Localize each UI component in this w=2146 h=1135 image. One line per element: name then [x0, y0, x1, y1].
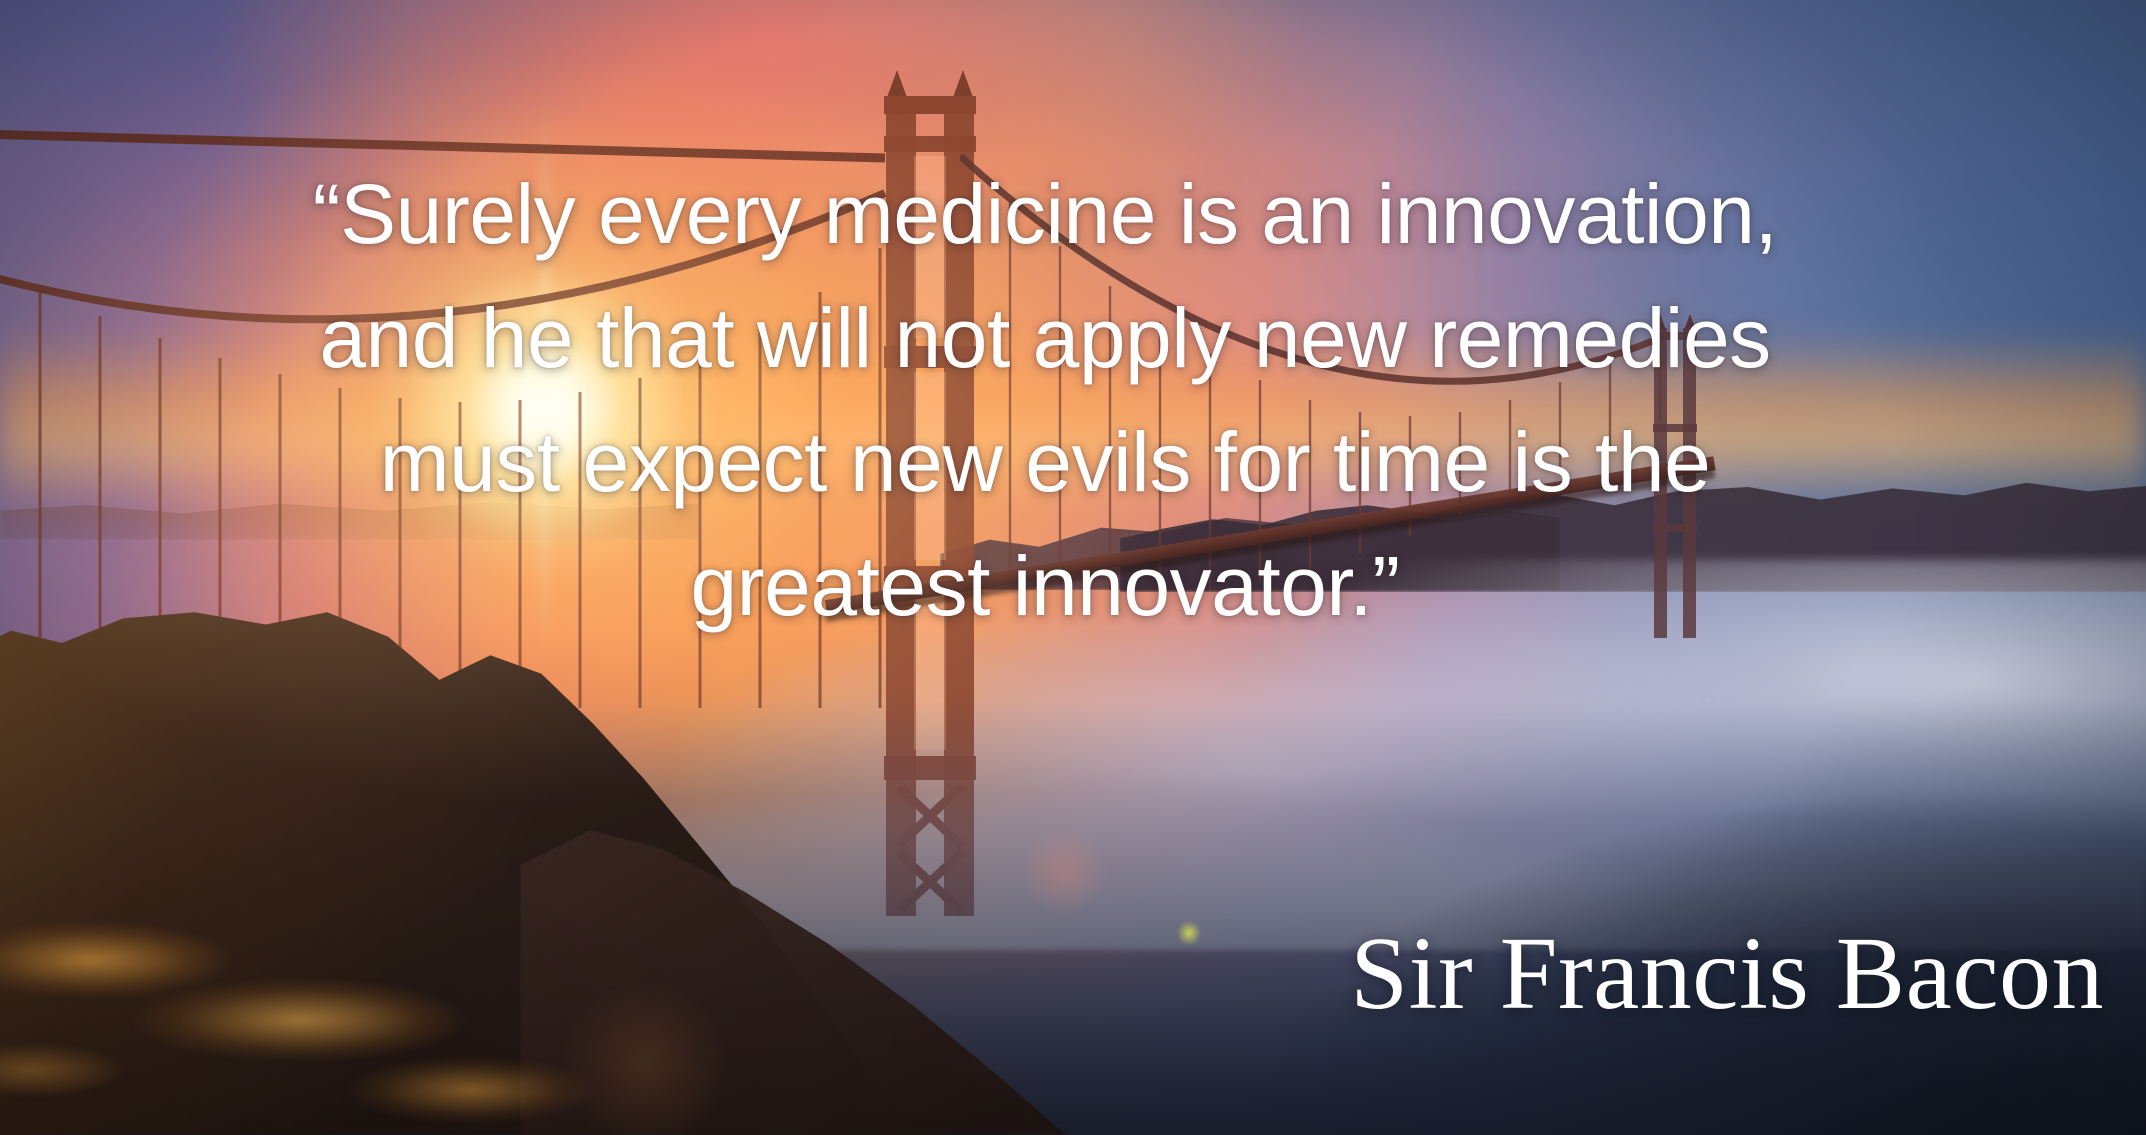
quote-attribution: Sir Francis Bacon — [0, 918, 2104, 1030]
quote-line-3: must expect new evils for time is the — [0, 400, 2090, 524]
quote-text: “Surely every medicine is an innovation,… — [0, 152, 2090, 648]
quote-line-4: greatest innovator.” — [0, 524, 2090, 648]
quote-graphic: “Surely every medicine is an innovation,… — [0, 0, 2146, 1135]
quote-line-1: “Surely every medicine is an innovation, — [0, 152, 2090, 276]
quote-line-2: and he that will not apply new remedies — [0, 276, 2090, 400]
